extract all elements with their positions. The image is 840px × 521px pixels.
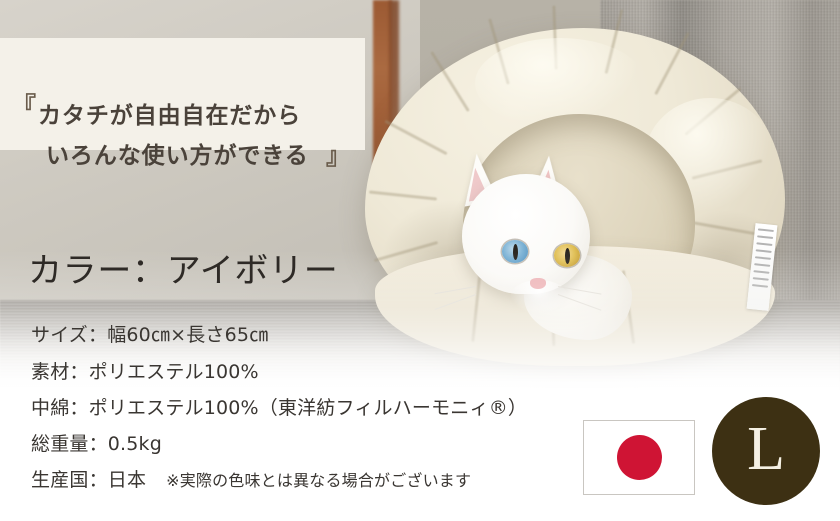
quote-open-mark: 『	[12, 86, 36, 121]
product-image: 『 カタチが自由自在だから いろんな使い方ができる 』 カラー：アイボリー サイ…	[0, 0, 840, 521]
spec-material: 素材：ポリエステル100%	[31, 357, 259, 384]
spec-size: サイズ：幅60㎝×長さ65㎝	[31, 320, 268, 347]
banner-line-1: カタチが自由自在だから	[38, 96, 301, 130]
spec-origin: 生産国：日本	[31, 469, 146, 491]
color-disclaimer-note: ※実際の色味とは異なる場合がございます	[166, 471, 471, 490]
quote-close-mark: 』	[326, 136, 350, 171]
quote-banner: 『 カタチが自由自在だから いろんな使い方ができる 』	[0, 38, 365, 150]
spec-origin-line: 生産国：日本※実際の色味とは異なる場合がございます	[31, 465, 471, 492]
banner-line-2: いろんな使い方ができる	[46, 136, 309, 170]
page-title: カラー：アイボリー	[28, 243, 338, 292]
flag-red-disc	[617, 435, 662, 480]
spec-fill: 中綿：ポリエステル100%（東洋紡フィルハーモニィ®）	[31, 393, 527, 420]
japan-flag-icon	[583, 420, 695, 495]
size-badge-label: L	[747, 418, 785, 480]
spec-weight: 総重量：0.5kg	[31, 429, 162, 456]
size-badge: L	[712, 397, 820, 505]
